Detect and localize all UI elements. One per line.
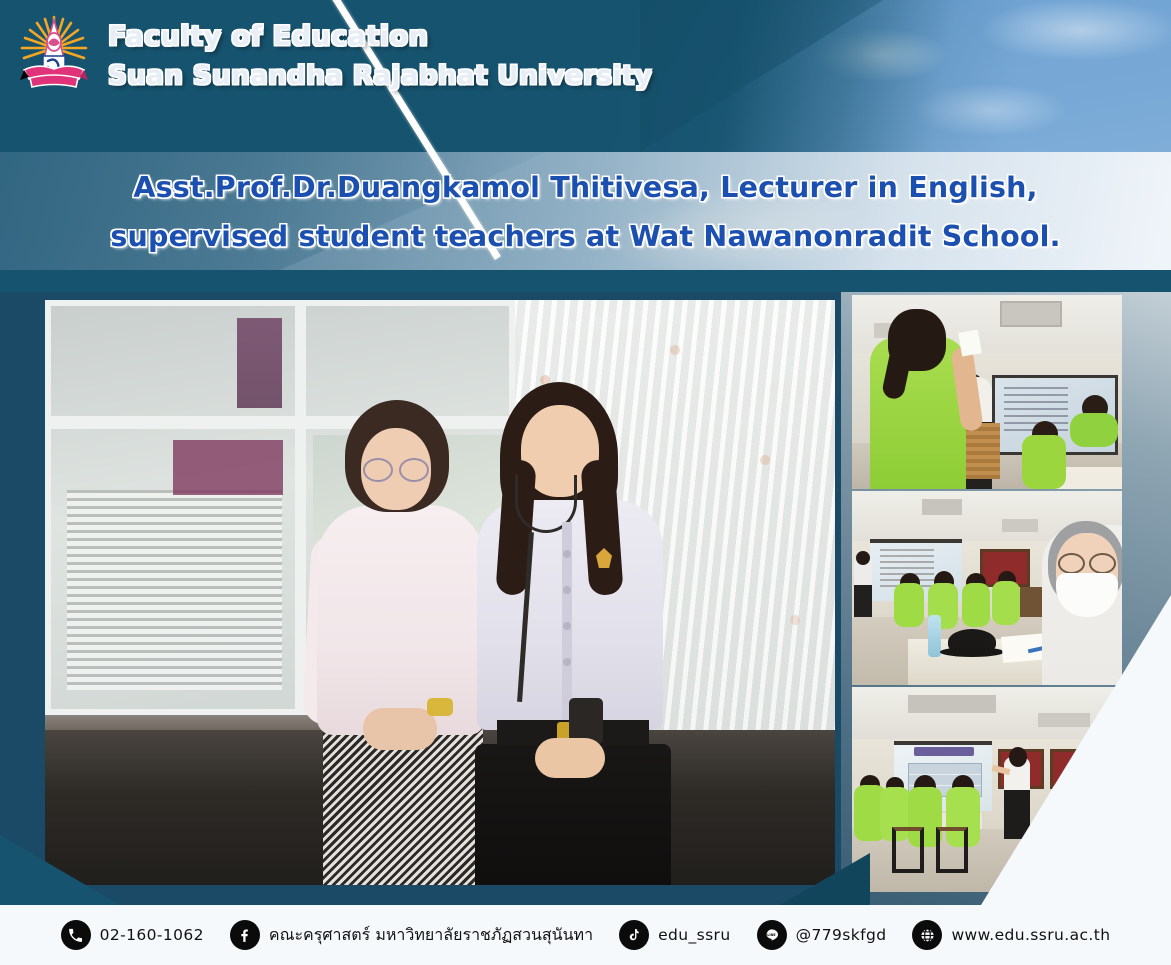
poster-canvas: Faculty of Education Suan Sunandha Rajab… [0, 0, 1171, 965]
facebook-icon [230, 920, 260, 950]
main-photo [45, 300, 835, 885]
contact-website[interactable]: www.edu.ssru.ac.th [912, 920, 1110, 950]
ssru-emblem-logo [14, 12, 94, 96]
photo-blinds [67, 490, 282, 690]
header-bottom-band [0, 270, 1171, 292]
observer-glasses [1058, 553, 1116, 570]
website-url: www.edu.ssru.ac.th [951, 926, 1110, 944]
university-name: Suan Sunandha Rajabhat University [108, 57, 652, 95]
word-card [958, 329, 982, 356]
contact-tiktok[interactable]: edu_ssru [619, 920, 731, 950]
tiktok-handle: edu_ssru [658, 926, 731, 944]
globe-icon [912, 920, 942, 950]
phone-number: 02-160-1062 [100, 926, 204, 944]
brand-text-block: Faculty of Education Suan Sunandha Rajab… [108, 13, 652, 95]
svg-text:LINE: LINE [767, 932, 776, 936]
footer-contact-bar: 02-160-1062 คณะครุศาสตร์ มหาวิทยาลัยราชภ… [0, 905, 1171, 965]
tiktok-icon [619, 920, 649, 950]
contact-phone[interactable]: 02-160-1062 [61, 920, 204, 950]
lecturer-watch [427, 698, 453, 716]
faculty-name: Faculty of Education [108, 17, 652, 57]
line-icon: LINE [757, 920, 787, 950]
photo-purple-wall [173, 440, 283, 495]
phone-icon [61, 920, 91, 950]
thumbnail-photo-1 [852, 295, 1122, 489]
facebook-page-name: คณะครุศาสตร์ มหาวิทยาลัยราชภัฏสวนสุนันทา [269, 923, 593, 948]
brand-lockup: Faculty of Education Suan Sunandha Rajab… [14, 12, 652, 96]
photo-purple-panel [237, 318, 282, 408]
photo-window-mullion-horizontal [45, 416, 515, 429]
contact-line[interactable]: LINE @779skfgd [757, 920, 887, 950]
line-id: @779skfgd [796, 926, 887, 944]
photo-window-mullion-vertical [295, 300, 306, 715]
photo-collage-area [0, 292, 1171, 905]
lecturer-glasses [363, 458, 429, 478]
water-bottle [928, 615, 941, 657]
contact-facebook[interactable]: คณะครุศาสตร์ มหาวิทยาลัยราชภัฏสวนสุนันทา [230, 920, 593, 950]
thumbnail-photo-2 [852, 491, 1122, 685]
